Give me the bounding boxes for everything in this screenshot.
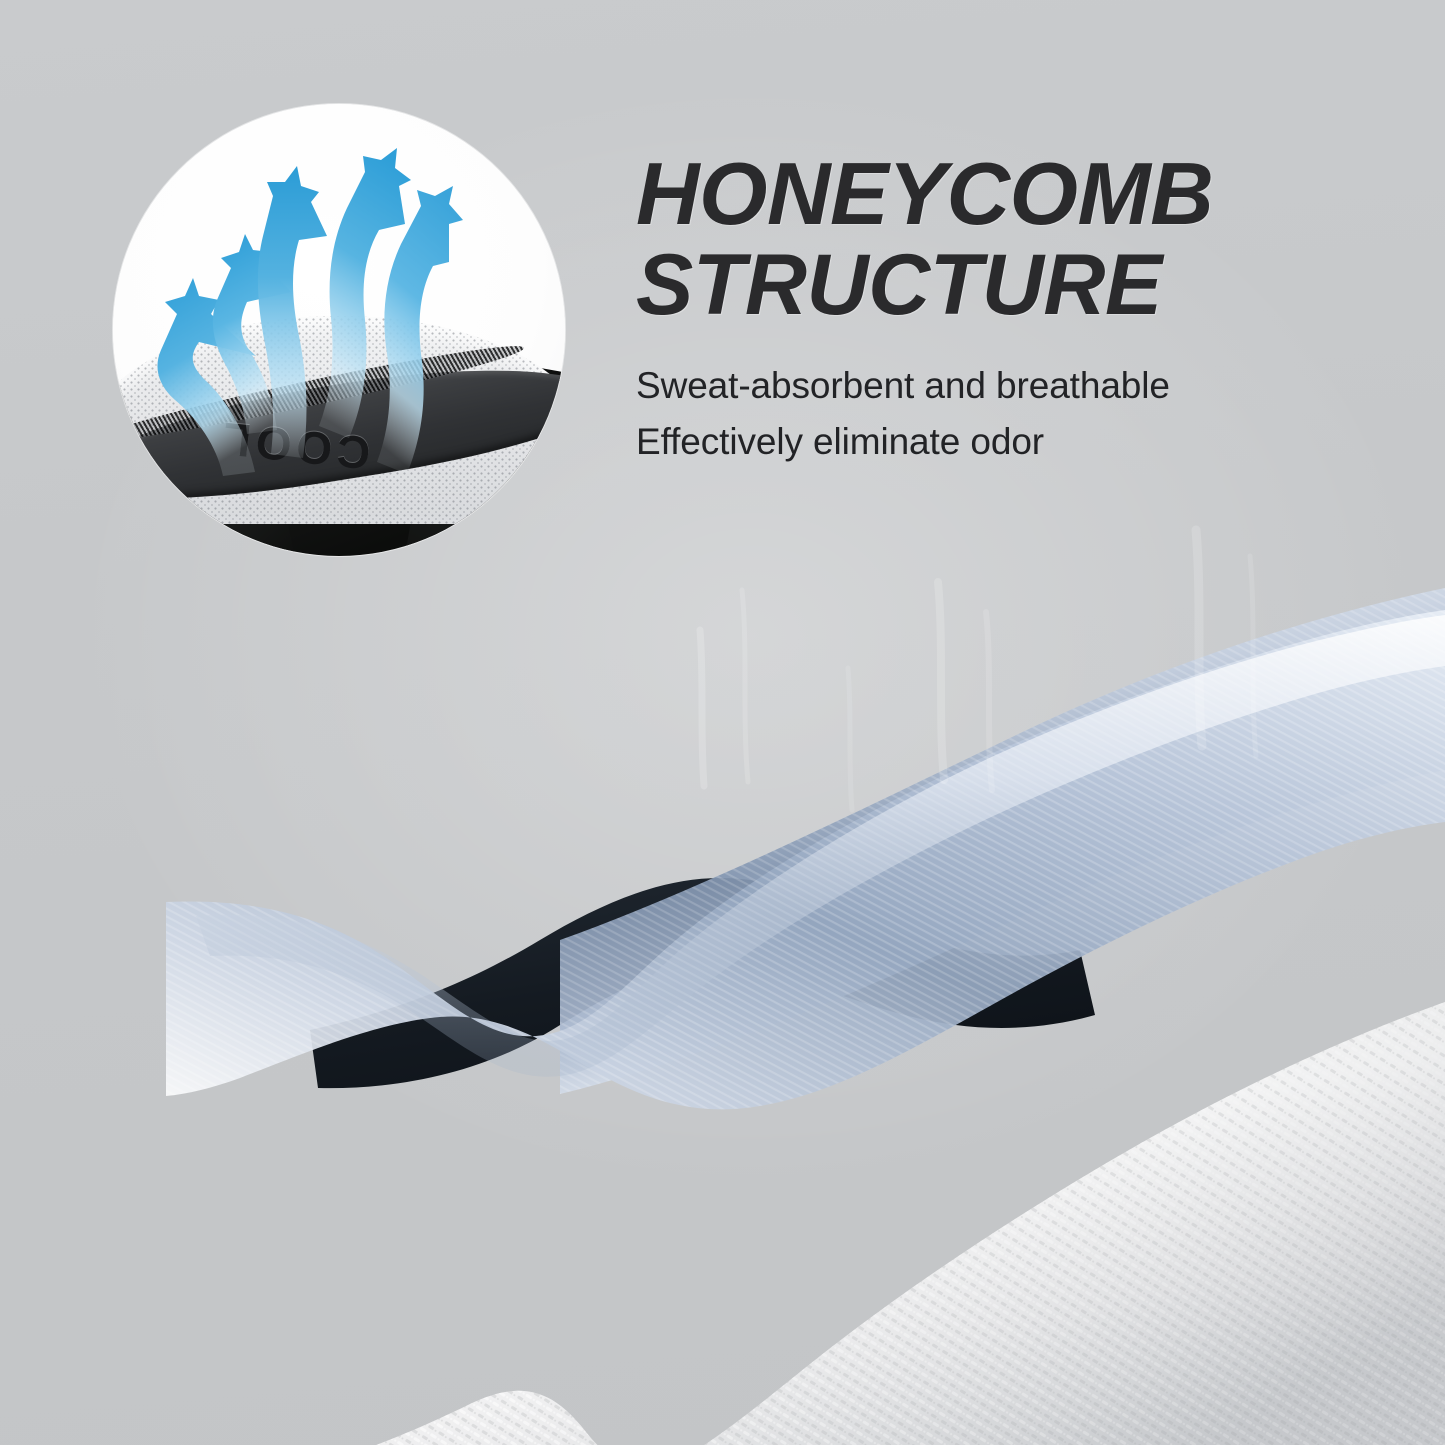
headline-block: HONEYCOMB STRUCTURE Sweat-absorbent and … [636, 150, 1396, 469]
fabric-wave-illustration [0, 470, 1445, 1445]
page-title-line-2: STRUCTURE [636, 243, 1396, 328]
subtitle-line-1: Sweat-absorbent and breathable [636, 358, 1396, 414]
fabric-wave-svg [0, 470, 1445, 1445]
subtitle-line-2: Effectively eliminate odor [636, 414, 1396, 470]
product-feature-banner: COOL [0, 0, 1445, 1445]
page-title-line-1: HONEYCOMB [636, 150, 1396, 237]
subtitle-block: Sweat-absorbent and breathable Effective… [636, 358, 1396, 469]
brand-label: COOL [215, 411, 373, 481]
product-closeup-inset: COOL [113, 104, 565, 556]
